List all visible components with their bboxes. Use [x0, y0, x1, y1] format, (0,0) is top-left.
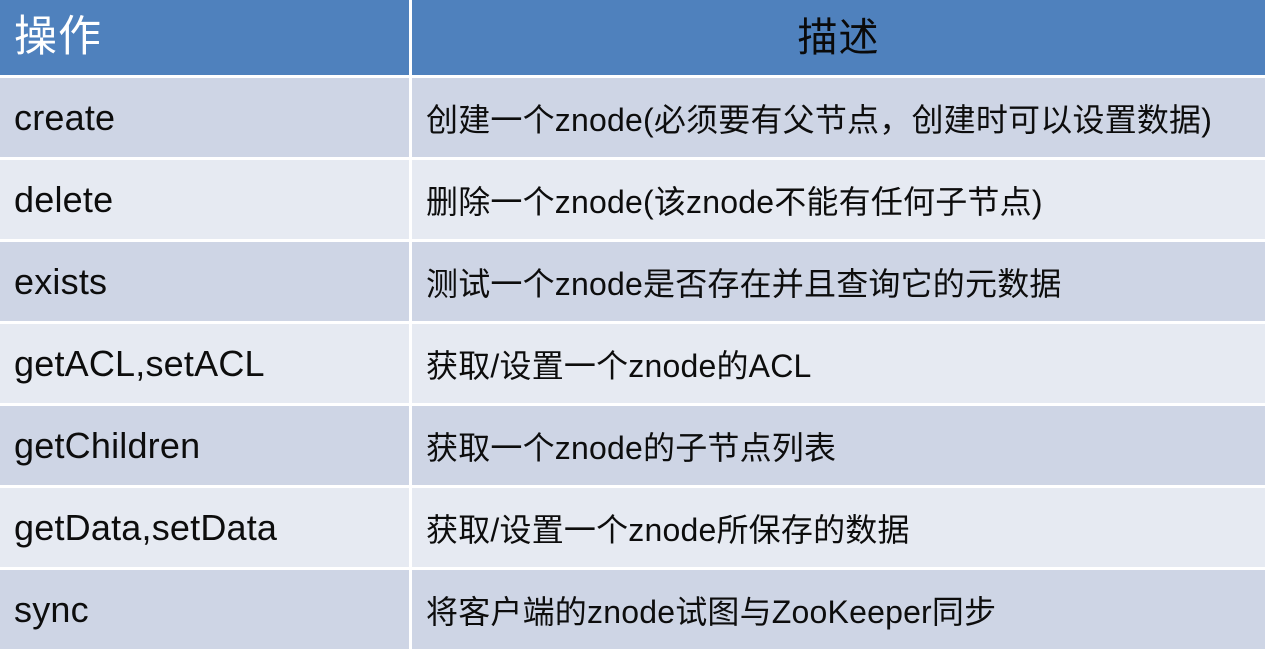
cell-description: 测试一个znode是否存在并且查询它的元数据 — [412, 242, 1265, 324]
cell-operation: getACL,setACL — [0, 324, 412, 406]
table-row: getData,setData 获取/设置一个znode所保存的数据 — [0, 488, 1265, 570]
table-header: 操作 描述 — [0, 0, 1265, 78]
cell-operation: getChildren — [0, 406, 412, 488]
table-row: getACL,setACL 获取/设置一个znode的ACL — [0, 324, 1265, 406]
cell-description: 获取一个znode的子节点列表 — [412, 406, 1265, 488]
table-row: exists 测试一个znode是否存在并且查询它的元数据 — [0, 242, 1265, 324]
cell-operation: exists — [0, 242, 412, 324]
cell-description: 删除一个znode(该znode不能有任何子节点) — [412, 160, 1265, 242]
table-body: create 创建一个znode(必须要有父节点，创建时可以设置数据) dele… — [0, 78, 1265, 649]
cell-operation: delete — [0, 160, 412, 242]
cell-operation: sync — [0, 570, 412, 649]
cell-description: 获取/设置一个znode的ACL — [412, 324, 1265, 406]
cell-description: 创建一个znode(必须要有父节点，创建时可以设置数据) — [412, 78, 1265, 160]
table-row: delete 删除一个znode(该znode不能有任何子节点) — [0, 160, 1265, 242]
table-row: create 创建一个znode(必须要有父节点，创建时可以设置数据) — [0, 78, 1265, 160]
zookeeper-operations-table: 操作 描述 create 创建一个znode(必须要有父节点，创建时可以设置数据… — [0, 0, 1265, 649]
table-row: sync 将客户端的znode试图与ZooKeeper同步 — [0, 570, 1265, 649]
column-header-operation: 操作 — [0, 0, 412, 78]
column-header-description: 描述 — [412, 0, 1265, 78]
zookeeper-operations-table-container: 操作 描述 create 创建一个znode(必须要有父节点，创建时可以设置数据… — [0, 0, 1276, 648]
cell-operation: getData,setData — [0, 488, 412, 570]
table-header-row: 操作 描述 — [0, 0, 1265, 78]
cell-description: 获取/设置一个znode所保存的数据 — [412, 488, 1265, 570]
cell-operation: create — [0, 78, 412, 160]
table-row: getChildren 获取一个znode的子节点列表 — [0, 406, 1265, 488]
cell-description: 将客户端的znode试图与ZooKeeper同步 — [412, 570, 1265, 649]
